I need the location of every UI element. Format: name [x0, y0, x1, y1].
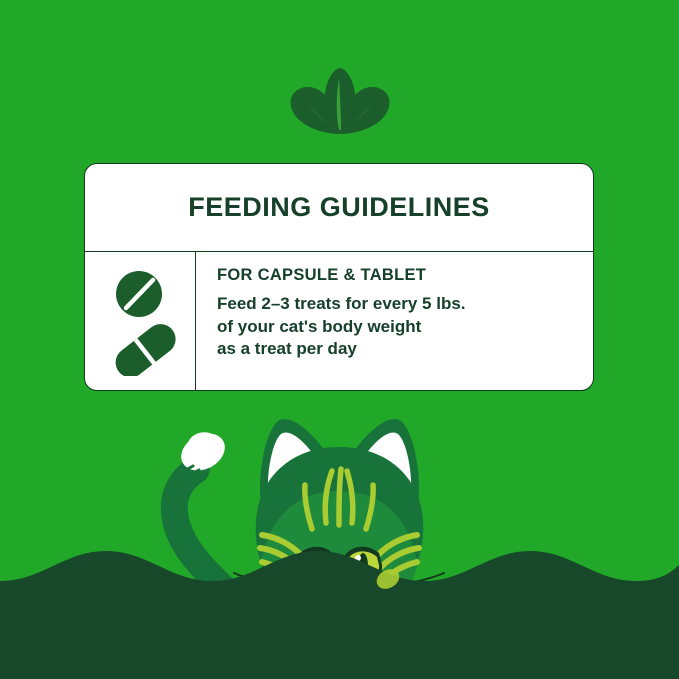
product-panel: FEEDING GUIDELINES FOR — [0, 0, 679, 679]
text-cell: FOR CAPSULE & TABLET Feed 2–3 treats for… — [196, 252, 593, 391]
capsule-and-tablet-icon — [99, 264, 183, 376]
capsule-icon — [110, 318, 182, 376]
icon-cell — [85, 252, 196, 391]
page-title: FEEDING GUIDELINES — [188, 192, 490, 223]
tablet-icon — [116, 271, 162, 317]
instruction-line: of your cat's body weight — [217, 316, 583, 338]
card-title-row: FEEDING GUIDELINES — [85, 164, 593, 252]
sub-heading: FOR CAPSULE & TABLET — [217, 266, 583, 284]
instruction-line: Feed 2–3 treats for every 5 lbs. — [217, 293, 583, 315]
three-leaf-icon — [270, 60, 410, 140]
instruction-line: as a treat per day — [217, 338, 583, 360]
feeding-guidelines-card: FEEDING GUIDELINES FOR — [84, 163, 594, 391]
wave-foreground — [0, 551, 679, 679]
card-body: FOR CAPSULE & TABLET Feed 2–3 treats for… — [85, 252, 593, 391]
cat-illustration — [0, 395, 679, 679]
